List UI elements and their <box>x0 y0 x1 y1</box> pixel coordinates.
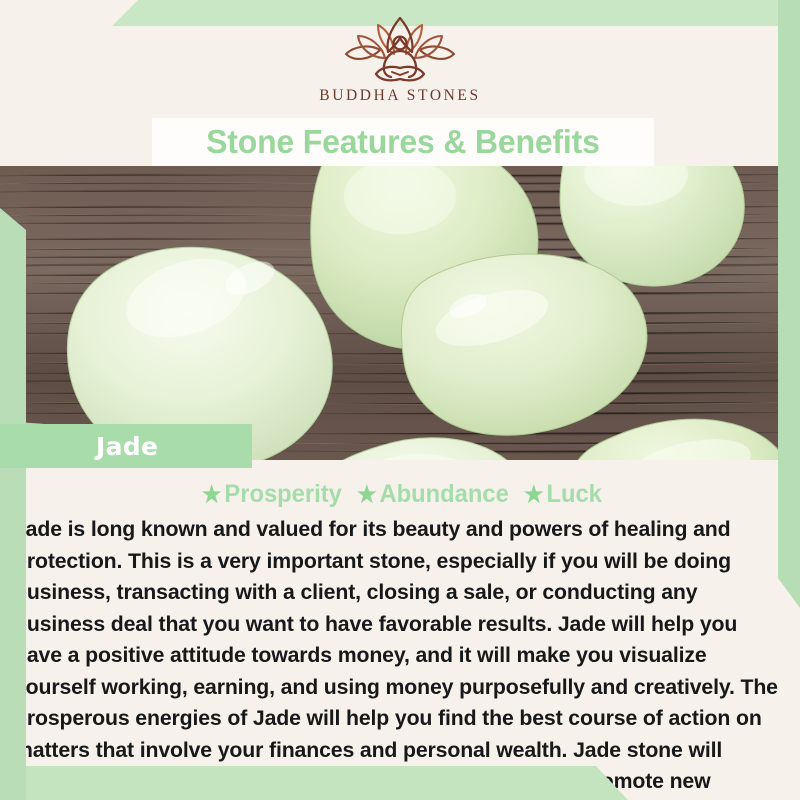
keyword-list: ★Prosperity★Abundance★Luck <box>20 480 780 509</box>
star-icon: ★ <box>524 481 544 507</box>
page-title: Stone Features & Benefits <box>206 123 600 161</box>
keyword-label-1: Abundance <box>379 480 508 508</box>
star-icon: ★ <box>202 481 222 507</box>
keyword-item-1: ★Abundance <box>348 480 515 508</box>
keyword-item-2: ★Luck <box>515 480 608 508</box>
brand-header: BUDDHA STONES <box>0 0 800 118</box>
brand-wordmark: BUDDHA STONES <box>319 87 480 105</box>
decor-right-green-strip <box>778 0 800 608</box>
stone-name: Jade <box>96 432 158 461</box>
stone-photo-artwork <box>0 166 800 460</box>
stone-photo <box>0 166 800 460</box>
lotus-meditation-icon <box>336 16 464 84</box>
title-card: Stone Features & Benefits <box>152 118 654 166</box>
keyword-label-0: Prosperity <box>224 480 341 508</box>
stone-name-banner: Jade <box>0 424 252 468</box>
stone-description: Jade is long known and valued for its be… <box>14 513 778 800</box>
keyword-label-2: Luck <box>546 480 601 508</box>
content-area: ★Prosperity★Abundance★Luck Jade is long … <box>0 468 800 800</box>
poster-root: BUDDHA STONES Stone Features & Benefits <box>0 0 800 800</box>
keyword-item-0: ★Prosperity <box>192 480 347 508</box>
decor-left-green-strip <box>0 208 26 800</box>
star-icon: ★ <box>357 481 377 507</box>
